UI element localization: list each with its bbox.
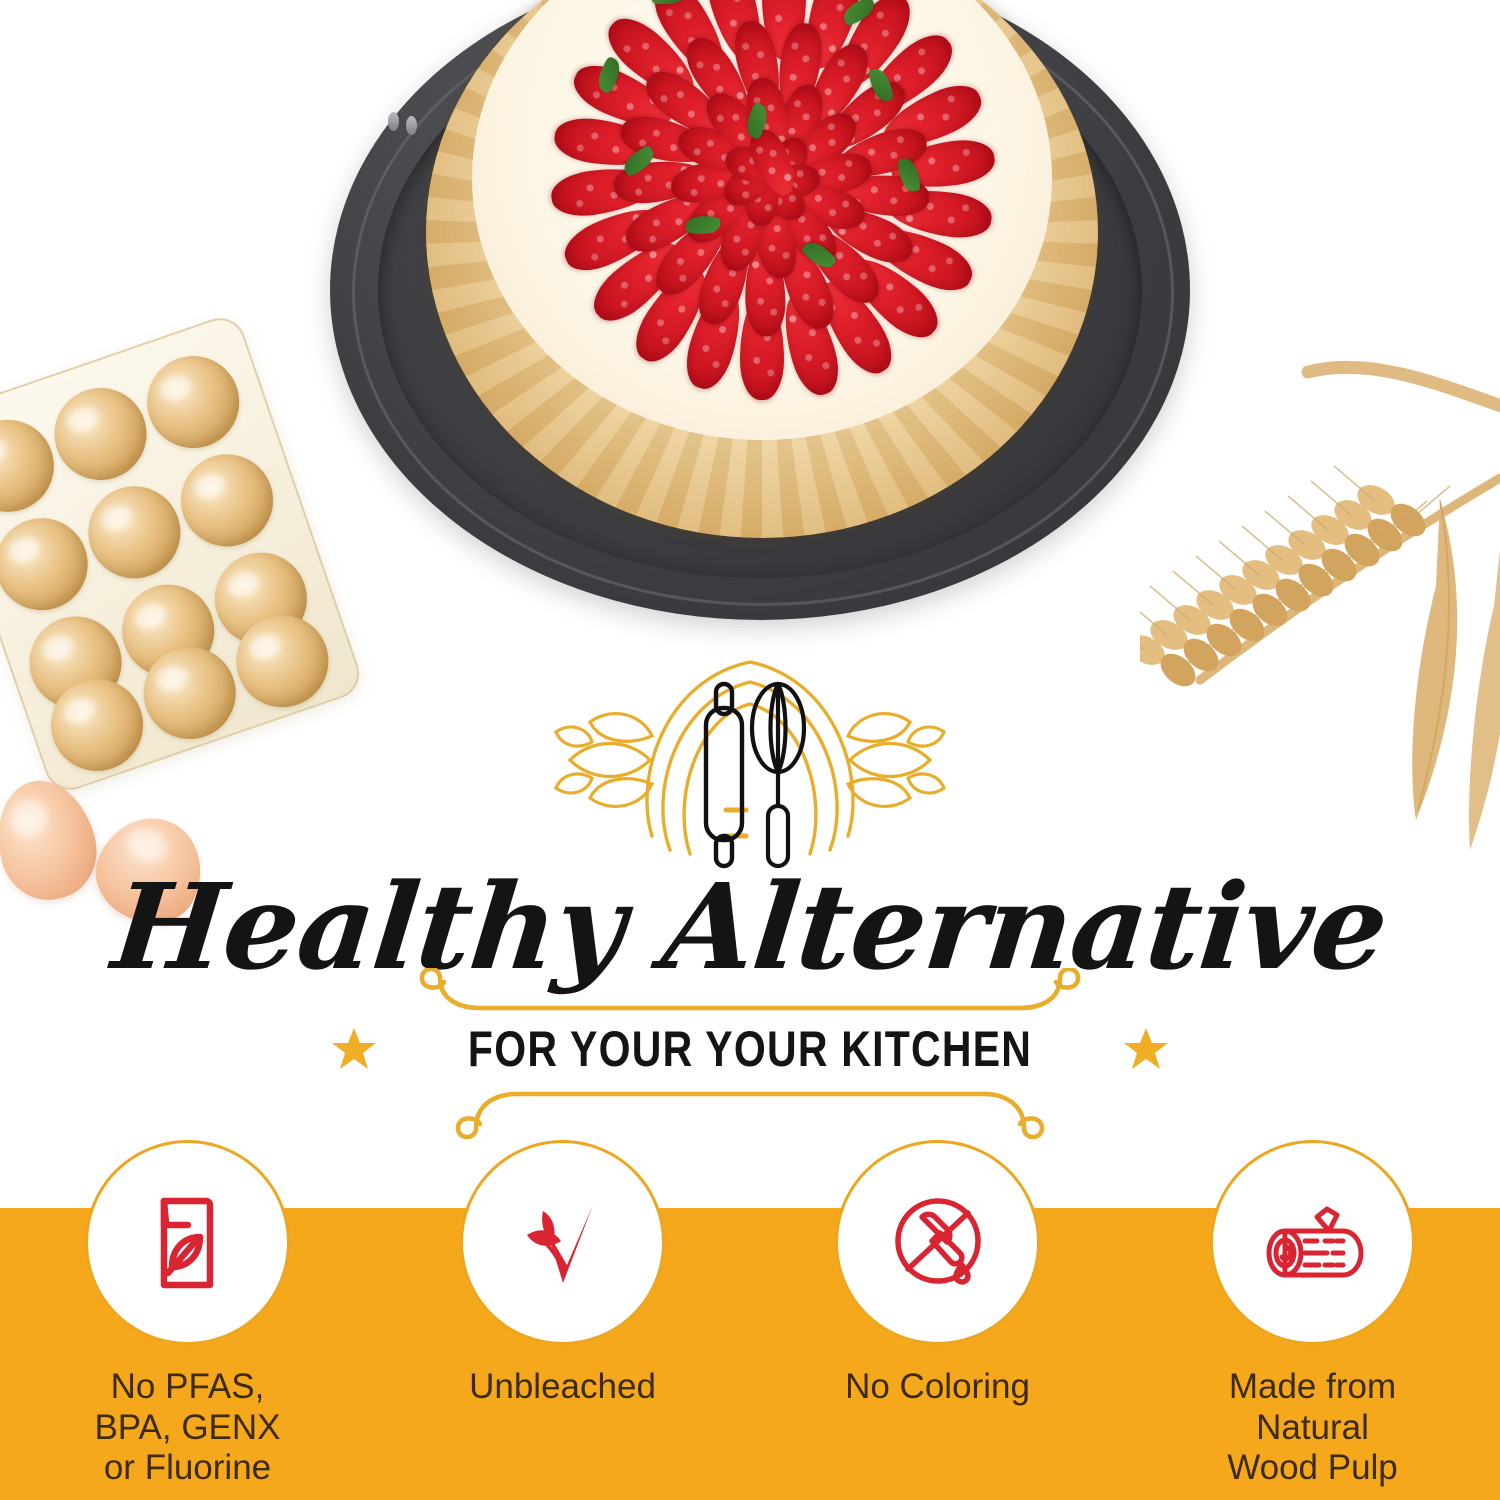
emblem-leaf xyxy=(590,779,652,807)
feature-item: No Coloring xyxy=(773,1140,1103,1408)
feature-icon-circle xyxy=(1210,1140,1415,1345)
feature-badges: No PFAS, BPA, GENX or Fluorine Unbleache… xyxy=(0,1140,1500,1500)
flourish-top xyxy=(0,968,1500,1023)
feature-item: Made from Natural Wood Pulp xyxy=(1148,1140,1478,1489)
egg-in-carton xyxy=(0,506,100,623)
feature-item: No PFAS, BPA, GENX or Fluorine xyxy=(23,1140,353,1489)
flourish-bottom-svg xyxy=(440,1082,1060,1140)
rolling-pin-icon xyxy=(706,684,742,866)
star-icon xyxy=(330,1025,378,1073)
flourish-top-svg xyxy=(400,968,1100,1018)
feature-label: Unbleached xyxy=(469,1367,656,1408)
feature-icon-circle xyxy=(835,1140,1040,1345)
no-dropper-icon xyxy=(882,1187,994,1299)
wheat-awn xyxy=(1219,541,1259,575)
springform-pan xyxy=(330,0,1190,620)
emblem-leaf xyxy=(848,714,910,742)
egg-in-carton xyxy=(169,442,286,559)
feature-item: Unbleached xyxy=(398,1140,728,1408)
wheat-illustration xyxy=(1140,350,1500,910)
wheat-svg xyxy=(1140,350,1500,910)
leaf-checkmark-icon xyxy=(507,1187,619,1299)
wheat-awn xyxy=(1196,556,1236,590)
whisk-icon xyxy=(752,684,804,866)
wheat-awn xyxy=(1242,526,1282,560)
egg-in-carton xyxy=(76,474,193,591)
emblem-leaf xyxy=(590,714,652,742)
wheat-awn xyxy=(1288,496,1328,530)
page-subtitle: FOR YOUR YOUR KITCHEN xyxy=(468,1020,1032,1078)
emblem-leaf xyxy=(908,774,944,793)
subtitle-row: FOR YOUR YOUR KITCHEN xyxy=(0,1020,1500,1078)
emblem-leaf xyxy=(908,727,944,746)
wheat-awn xyxy=(1334,466,1374,500)
emblem-leaf xyxy=(556,774,592,793)
wheat-awn xyxy=(1311,481,1351,515)
feature-label: Made from Natural Wood Pulp xyxy=(1227,1367,1398,1489)
egg-in-carton xyxy=(135,344,252,461)
pan-rivet xyxy=(406,116,417,135)
document-leaf-icon xyxy=(132,1187,244,1299)
wood-log-icon xyxy=(1257,1187,1369,1299)
egg-carton-illustration xyxy=(0,340,350,920)
feature-label: No PFAS, BPA, GENX or Fluorine xyxy=(94,1367,280,1489)
egg-carton-tray xyxy=(0,311,366,797)
flourish-bottom xyxy=(0,1082,1500,1145)
feature-label: No Coloring xyxy=(845,1367,1030,1408)
feature-icon-circle xyxy=(85,1140,290,1345)
emblem-leaf xyxy=(570,744,650,777)
star-icon xyxy=(1122,1025,1170,1073)
emblem-leaf xyxy=(556,727,592,746)
tart-cream-filling xyxy=(472,0,1052,440)
product-infographic: Healthy Alternative FOR YOUR YOUR KITCHE… xyxy=(0,0,1500,1500)
egg-in-carton xyxy=(42,375,159,492)
emblem-leaf xyxy=(848,779,910,807)
wheat-awn xyxy=(1173,571,1213,605)
wheat-awn xyxy=(1265,511,1305,545)
feature-icon-circle xyxy=(460,1140,665,1345)
emblem-leaf xyxy=(850,744,930,777)
pan-rivet xyxy=(388,112,399,131)
hero-photo-strawberry-tart xyxy=(330,0,1190,620)
wheat-awn xyxy=(1150,586,1190,620)
